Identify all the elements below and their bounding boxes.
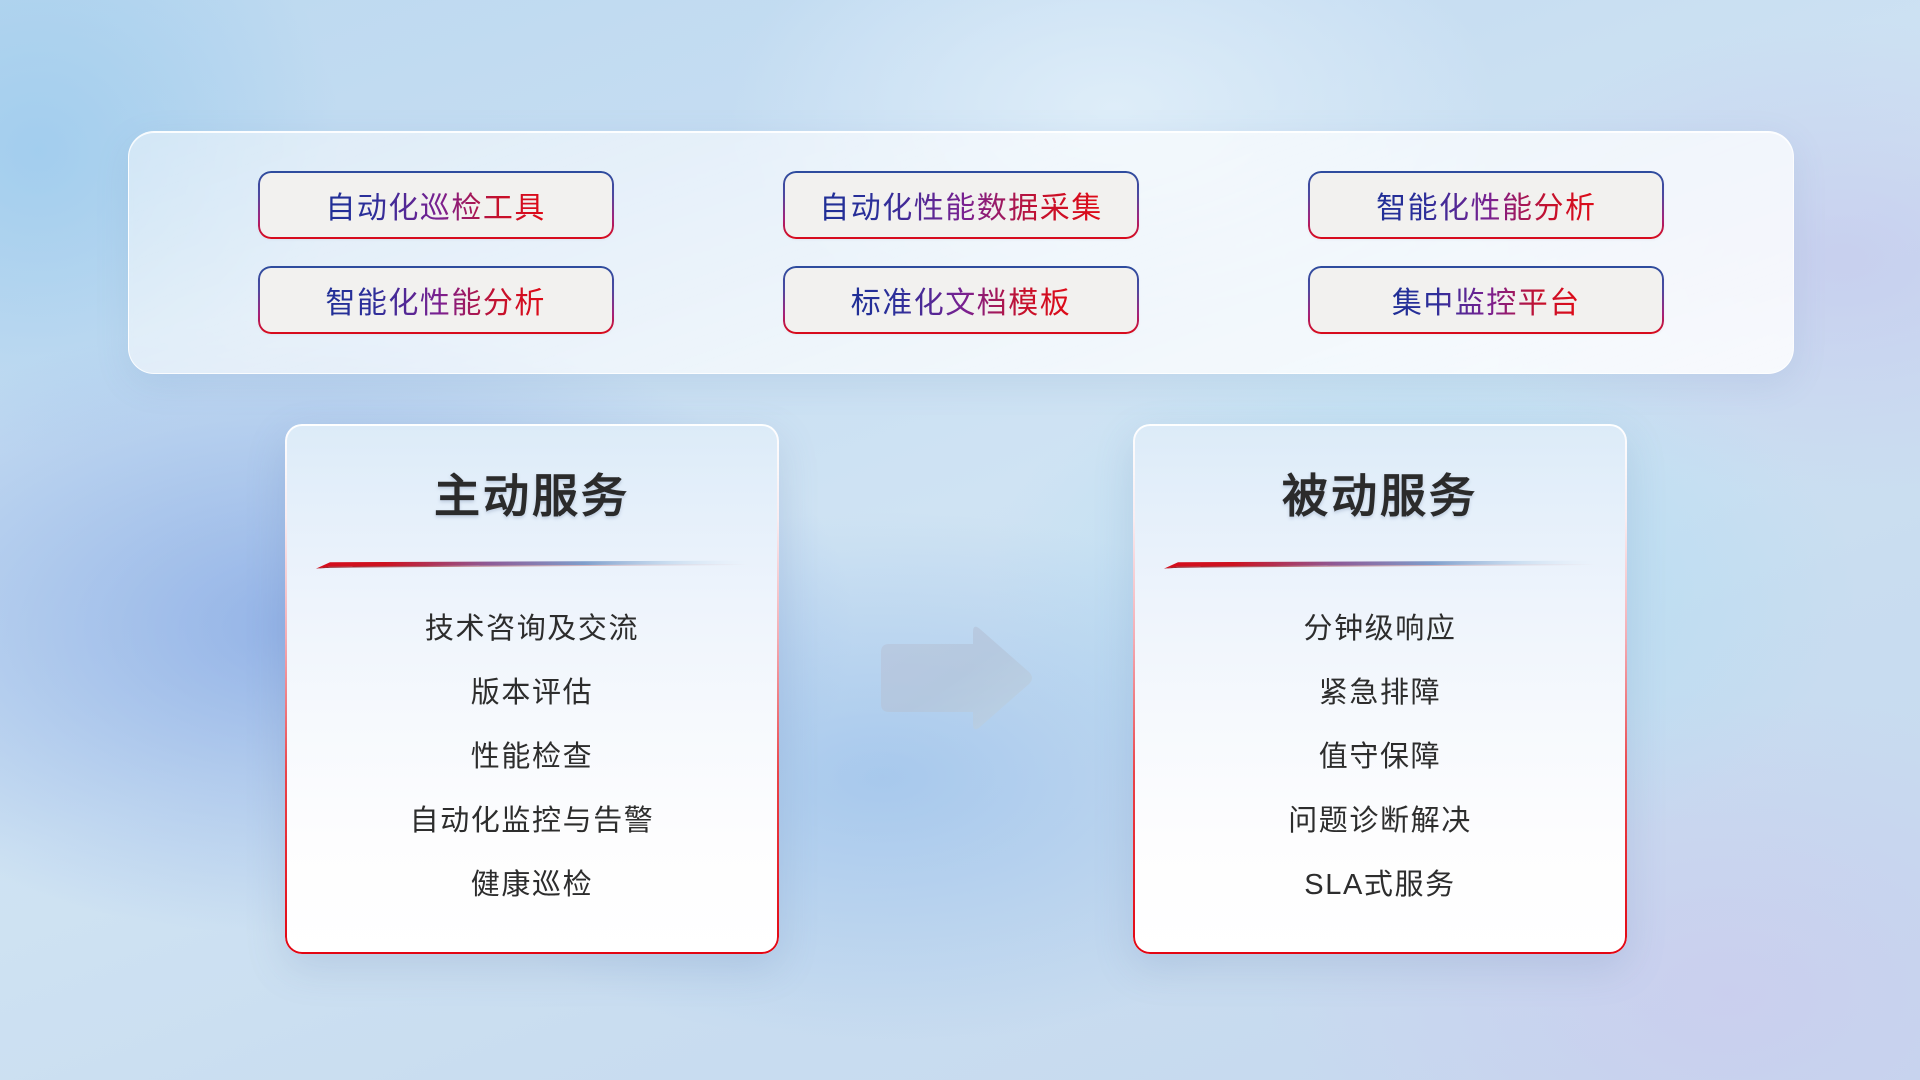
capability-pill-label: 集中监控平台 <box>1392 278 1581 322</box>
capability-pill-grid: 自动化巡检工具 自动化性能数据采集 智能化性能分析 智能化性能分析 标准化文档模… <box>129 132 1793 373</box>
list-item: SLA式服务 <box>1304 861 1455 903</box>
list-item: 紧急排障 <box>1319 669 1441 711</box>
capability-pill-1[interactable]: 自动化巡检工具 <box>258 171 614 239</box>
capability-pill-5[interactable]: 标准化文档模板 <box>783 266 1139 334</box>
list-item: 版本评估 <box>471 669 593 711</box>
list-item: 性能检查 <box>471 733 593 775</box>
card-list-active: 技术咨询及交流 版本评估 性能检查 自动化监控与告警 健康巡检 <box>285 605 779 903</box>
card-title-passive: 被动服务 <box>1133 460 1627 526</box>
arrow-right-icon <box>873 623 1035 733</box>
slide-canvas: 自动化巡检工具 自动化性能数据采集 智能化性能分析 智能化性能分析 标准化文档模… <box>0 0 1920 1080</box>
capability-pill-3[interactable]: 智能化性能分析 <box>1308 171 1664 239</box>
capability-pill-6[interactable]: 集中监控平台 <box>1308 266 1664 334</box>
capability-pill-label: 自动化性能数据采集 <box>819 183 1103 227</box>
card-list-passive: 分钟级响应 紧急排障 值守保障 问题诊断解决 SLA式服务 <box>1133 605 1627 903</box>
list-item: 技术咨询及交流 <box>425 605 639 647</box>
service-card-passive[interactable]: 被动服务 <box>1133 424 1627 954</box>
capability-pill-2[interactable]: 自动化性能数据采集 <box>783 171 1139 239</box>
list-item: 自动化监控与告警 <box>410 797 655 839</box>
capability-pill-label: 自动化巡检工具 <box>325 183 546 227</box>
list-item: 问题诊断解决 <box>1288 797 1472 839</box>
capability-pill-label: 智能化性能分析 <box>1376 183 1597 227</box>
list-item: 健康巡检 <box>471 861 593 903</box>
list-item: 值守保障 <box>1319 733 1441 775</box>
card-title-active: 主动服务 <box>285 460 779 526</box>
card-divider <box>1164 558 1596 569</box>
card-divider <box>316 558 748 569</box>
capability-pill-label: 标准化文档模板 <box>851 278 1072 322</box>
list-item: 分钟级响应 <box>1303 605 1456 647</box>
capability-panel: 自动化巡检工具 自动化性能数据采集 智能化性能分析 智能化性能分析 标准化文档模… <box>128 131 1794 374</box>
capability-pill-label: 智能化性能分析 <box>325 278 546 322</box>
capability-pill-4[interactable]: 智能化性能分析 <box>258 266 614 334</box>
service-card-active[interactable]: 主动服务 <box>285 424 779 954</box>
